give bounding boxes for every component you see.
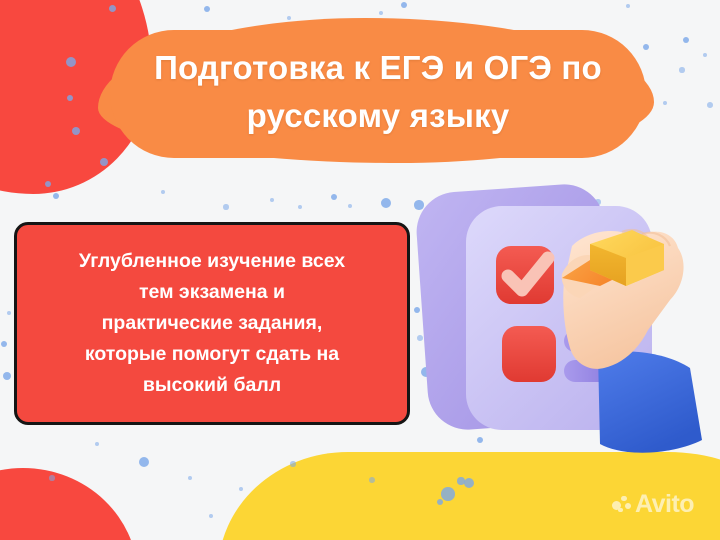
- decor-dot: [223, 204, 228, 209]
- decor-dot: [441, 487, 455, 501]
- description-line-3: практические задания,: [102, 308, 323, 339]
- decor-dot: [663, 101, 668, 106]
- description-line-5: высокий балл: [143, 370, 281, 401]
- decor-dot: [703, 53, 707, 57]
- decor-dot: [209, 514, 214, 519]
- avito-brand-text: Avito: [635, 492, 694, 517]
- decor-dot: [287, 16, 291, 20]
- decor-dot: [298, 205, 302, 209]
- decor-dot: [49, 475, 54, 480]
- decor-dot: [109, 5, 116, 12]
- description-card: Углубленное изучение всех тем экзамена и…: [14, 222, 410, 425]
- decor-dot: [626, 4, 631, 9]
- decor-dot: [290, 461, 295, 466]
- decor-dot: [381, 198, 391, 208]
- decor-dot: [7, 311, 12, 316]
- decor-dot: [401, 2, 407, 8]
- checkbox-unchecked: [502, 326, 556, 382]
- decor-dot: [348, 204, 352, 208]
- decor-dot: [95, 442, 100, 447]
- poster-canvas: Подготовка к ЕГЭ и ОГЭ по русскому языку…: [0, 0, 720, 540]
- decor-dot: [53, 193, 59, 199]
- title-line-2: русскому языку: [108, 92, 648, 140]
- decor-dot: [379, 11, 383, 15]
- hand-checklist-pencil-illustration: [412, 182, 712, 472]
- decor-blob-red-bottom-left: [0, 468, 138, 540]
- title-line-1: Подготовка к ЕГЭ и ОГЭ по: [108, 44, 648, 92]
- description-line-2: тем экзамена и: [139, 277, 285, 308]
- decor-dot: [1, 341, 7, 347]
- poster-title: Подготовка к ЕГЭ и ОГЭ по русскому языку: [108, 44, 648, 140]
- avito-logo-icon: [612, 496, 631, 514]
- decor-dot: [270, 198, 274, 202]
- decor-dot: [331, 194, 338, 201]
- decor-dot: [204, 6, 210, 12]
- description-line-4: которые помогут сдать на: [85, 339, 339, 370]
- decor-dot: [369, 477, 375, 483]
- blue-sleeve: [598, 351, 702, 452]
- description-line-1: Углубленное изучение всех: [79, 246, 345, 277]
- decor-dot: [707, 102, 713, 108]
- decor-dot: [66, 57, 76, 67]
- decor-dot: [3, 372, 11, 380]
- decor-dot: [161, 190, 166, 195]
- decor-dot: [239, 487, 243, 491]
- decor-dot: [188, 476, 192, 480]
- decor-dot: [679, 67, 684, 72]
- decor-dot: [437, 499, 443, 505]
- decor-dot: [683, 37, 689, 43]
- checkbox-checked: [496, 246, 554, 304]
- avito-watermark: Avito: [612, 492, 694, 517]
- decor-dot: [139, 457, 150, 468]
